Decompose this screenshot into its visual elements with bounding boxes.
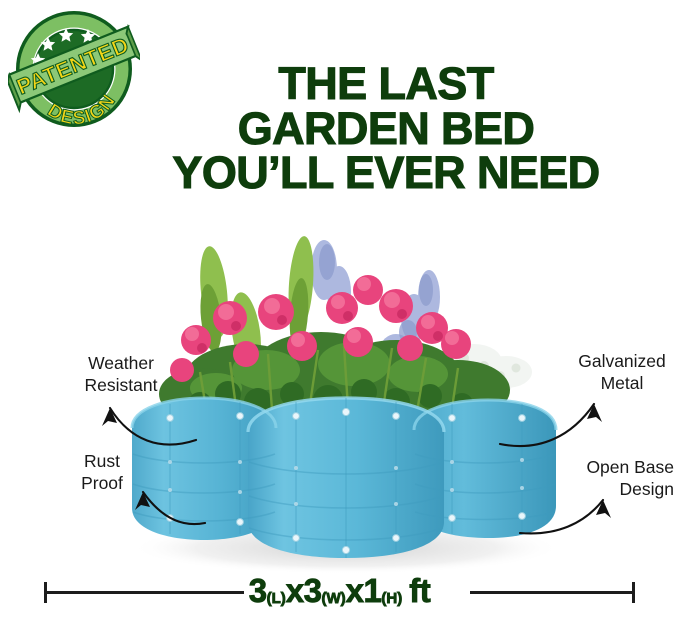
plant-mass bbox=[159, 235, 532, 420]
arrow-galvanized-head bbox=[587, 404, 602, 422]
headline-line-1: THE LAST bbox=[130, 62, 642, 107]
dimension-height-unit: (H) bbox=[381, 590, 402, 607]
callout-galvanized-metal: Galvanized Metal bbox=[570, 350, 674, 395]
dimension-length: 3 bbox=[249, 572, 267, 609]
headline-line-2: GARDEN BED bbox=[130, 107, 642, 152]
page-title: THE LAST GARDEN BED YOU’LL EVER NEED bbox=[130, 62, 642, 196]
planter-body bbox=[132, 398, 556, 558]
patented-design-badge: DESIGN PATENTED bbox=[8, 6, 140, 136]
headline-line-3: YOU’LL EVER NEED bbox=[130, 151, 642, 196]
dimension-x2: x bbox=[346, 572, 364, 609]
dimension-unit: ft bbox=[409, 572, 430, 609]
arrow-openbase-head bbox=[596, 500, 611, 518]
dimension-length-unit: (L) bbox=[267, 590, 286, 607]
product-marketing-image: DESIGN PATENTED THE LAST GARDEN BED YOU’… bbox=[0, 0, 679, 617]
callout-rust-proof: Rust Proof bbox=[56, 450, 148, 495]
dimension-text: 3(L)x3(W)x1(H)ft bbox=[0, 568, 679, 617]
dimension-x1: x bbox=[286, 572, 304, 609]
product-photo bbox=[96, 222, 586, 574]
callout-open-base-design: Open Base Design bbox=[560, 456, 674, 501]
callout-weather-resistant: Weather Resistant bbox=[56, 352, 186, 397]
dimension-height: 1 bbox=[364, 572, 382, 609]
dimension-width: 3 bbox=[304, 572, 322, 609]
dimension-bar: 3(L)x3(W)x1(H)ft bbox=[0, 568, 679, 617]
dimension-width-unit: (W) bbox=[322, 590, 346, 607]
